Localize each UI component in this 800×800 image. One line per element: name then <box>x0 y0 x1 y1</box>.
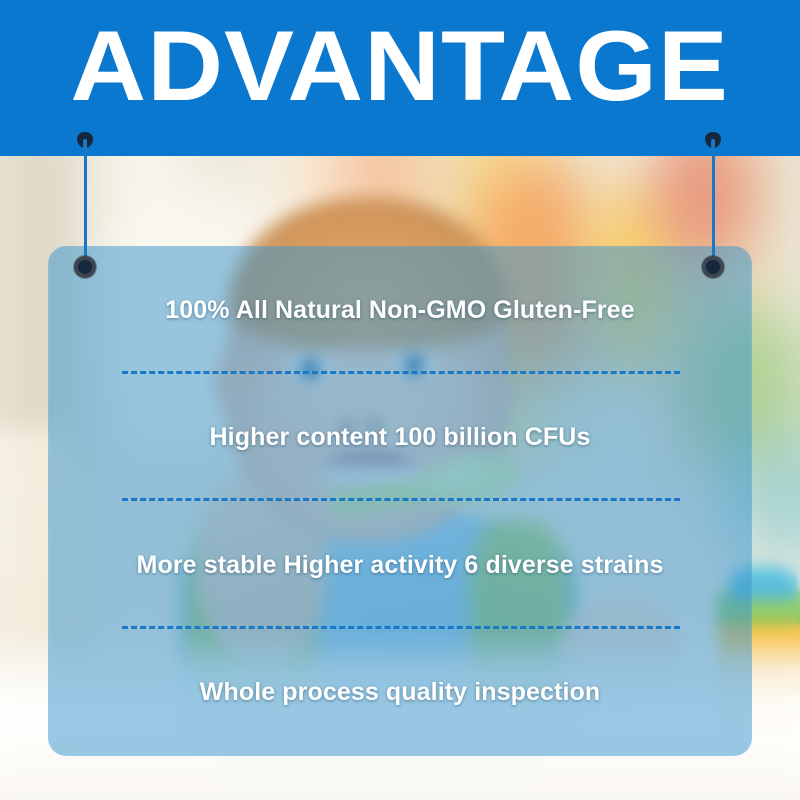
header-banner: ADVANTAGE <box>0 0 800 156</box>
feature-text-4: Whole process quality inspection <box>200 677 601 707</box>
page-title: ADVANTAGE <box>71 0 730 117</box>
list-item: More stable Higher activity 6 diverse st… <box>48 501 752 629</box>
list-item: Whole process quality inspection <box>48 629 752 757</box>
feature-list: 100% All Natural Non-GMO Gluten-Free Hig… <box>48 246 752 756</box>
feature-text-3: More stable Higher activity 6 diverse st… <box>137 550 664 580</box>
list-item: Higher content 100 billion CFUs <box>48 374 752 502</box>
feature-panel: 100% All Natural Non-GMO Gluten-Free Hig… <box>48 246 752 756</box>
feature-text-2: Higher content 100 billion CFUs <box>210 422 591 452</box>
feature-text-1: 100% All Natural Non-GMO Gluten-Free <box>165 295 634 325</box>
list-item: 100% All Natural Non-GMO Gluten-Free <box>48 246 752 374</box>
advantage-infographic: ADVANTAGE 100% All Natural Non-GMO Glute… <box>0 0 800 800</box>
